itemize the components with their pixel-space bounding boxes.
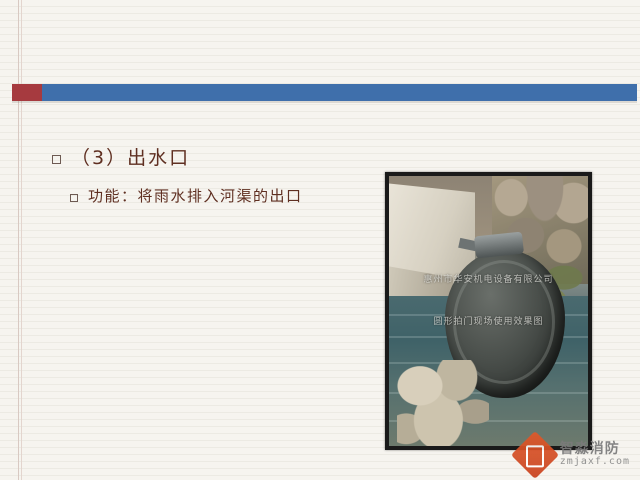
- watermark-text-block: 智淼消防 zmjaxf.com: [560, 442, 630, 467]
- bullet-square-icon: [52, 155, 61, 164]
- band-shadow: [12, 101, 637, 103]
- photo-image: 惠州市华安机电设备有限公司 圆形拍门现场使用效果图: [389, 176, 588, 446]
- foreground-rocks-region: [397, 360, 489, 446]
- bullet-square-icon: [70, 194, 78, 202]
- margin-rule-inner: [21, 0, 22, 480]
- bullet-secondary-label: 功能：将雨水排入河渠的出口: [88, 186, 303, 206]
- bullet-item-primary: （3）出水口: [52, 146, 190, 170]
- photo-caption-line-2: 圆形拍门现场使用效果图: [389, 314, 588, 327]
- photo-caption-line-1: 惠州市华安机电设备有限公司: [389, 272, 588, 285]
- watermark-logo-icon: [511, 431, 559, 479]
- band-accent-red: [12, 84, 42, 101]
- watermark-title: 智淼消防: [560, 442, 630, 457]
- margin-rule-outer: [18, 0, 19, 480]
- bullet-primary-label: （3）出水口: [71, 146, 190, 170]
- watermark-subtitle: zmjaxf.com: [560, 457, 630, 468]
- bullet-item-secondary: 功能：将雨水排入河渠的出口: [70, 186, 303, 206]
- header-divider-band: [0, 84, 640, 102]
- band-accent-blue: [42, 84, 637, 101]
- slide-canvas: （3）出水口 功能：将雨水排入河渠的出口 惠州市华安机电设备有限公司: [0, 0, 640, 480]
- photo-frame: 惠州市华安机电设备有限公司 圆形拍门现场使用效果图: [385, 172, 592, 450]
- site-watermark: 智淼消防 zmjaxf.com: [518, 438, 630, 472]
